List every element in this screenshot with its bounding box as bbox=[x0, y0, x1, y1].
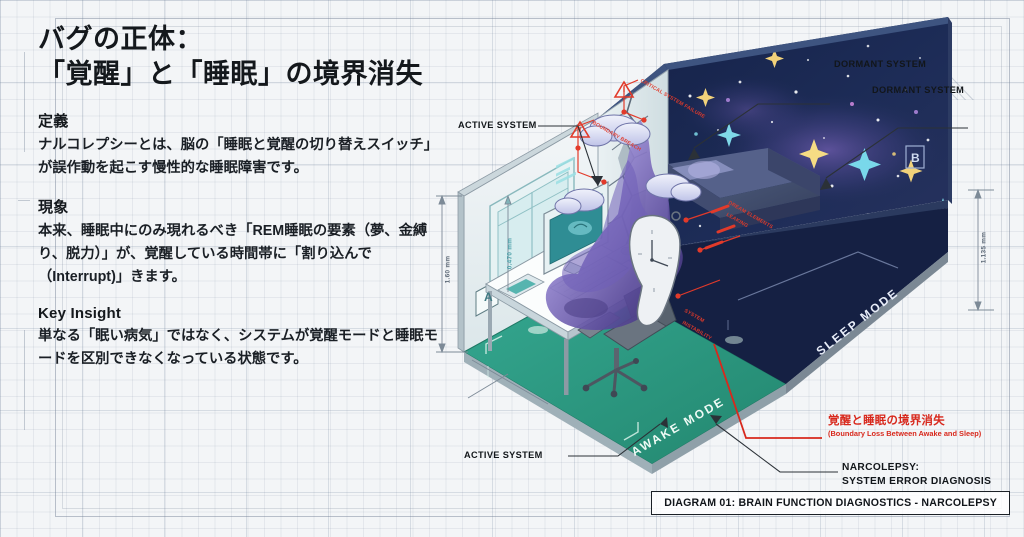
section-phenomenon-body: 本来、睡眠中にのみ現れるべき「REM睡眠の要素（夢、金縛り、脱力）」が、覚醒して… bbox=[38, 220, 438, 288]
callout-dormant-system-2: DORMANT SYSTEM bbox=[872, 85, 964, 95]
section-phenomenon: 現象 本来、睡眠中にのみ現れるべき「REM睡眠の要素（夢、金縛り、脱力）」が、覚… bbox=[38, 196, 438, 288]
section-phenomenon-heading: 現象 bbox=[38, 196, 438, 217]
boundary-loss-en: (Boundary Loss Between Awake and Sleep) bbox=[828, 429, 981, 438]
title-block: DIAGRAM 01: BRAIN FUNCTION DIAGNOSTICS -… bbox=[651, 491, 1010, 515]
boundary-loss-highlight: 覚醒と睡眠の境界消失 (Boundary Loss Between Awake … bbox=[828, 412, 981, 438]
text-column: バグの正体： 「覚醒」と「睡眠」の境界消失 定義 ナルコレプシーとは、脳の「睡眠… bbox=[38, 22, 438, 387]
callout-active-system-top: ACTIVE SYSTEM bbox=[458, 120, 537, 130]
callout-narcolepsy-line1: NARCOLEPSY: bbox=[842, 462, 919, 473]
blueprint-page: バグの正体： 「覚醒」と「睡眠」の境界消失 定義 ナルコレプシーとは、脳の「睡眠… bbox=[0, 0, 1024, 537]
page-title-line2: 「覚醒」と「睡眠」の境界消失 bbox=[38, 57, 438, 92]
section-key-insight-body: 単なる「眠い病気」ではなく、システムが覚醒モードと睡眠モードを区別できなくなって… bbox=[38, 325, 438, 370]
marker-a-label: A bbox=[484, 290, 493, 304]
dimension-right-value: 1.135 mm bbox=[980, 232, 987, 264]
section-definition: 定義 ナルコレプシーとは、脳の「睡眠と覚醒の切り替えスイッチ」が誤作動を起こす慢… bbox=[38, 110, 438, 179]
isometric-room-diagram: AWAKE MODE SLEEP MODE A B bbox=[428, 0, 1024, 537]
marker-b-label: B bbox=[911, 151, 920, 165]
dimension-left-value: 1.60 mm bbox=[444, 256, 451, 284]
section-definition-heading: 定義 bbox=[38, 110, 438, 131]
page-title-line1: バグの正体： bbox=[38, 22, 438, 57]
edge-tick-left-bottom bbox=[24, 330, 25, 430]
callout-active-system-bottom: ACTIVE SYSTEM bbox=[464, 450, 543, 460]
callout-dormant-system-1: DORMANT SYSTEM bbox=[834, 59, 926, 69]
dimension-inner-value: 0.470 mm bbox=[506, 238, 513, 270]
edge-tick-left-top bbox=[24, 52, 25, 152]
boundary-loss-jp: 覚醒と睡眠の境界消失 bbox=[828, 412, 981, 428]
page-title: バグの正体： 「覚醒」と「睡眠」の境界消失 bbox=[38, 22, 438, 92]
callout-narcolepsy-line2: SYSTEM ERROR DIAGNOSIS bbox=[842, 476, 991, 487]
section-key-insight: Key Insight 単なる「眠い病気」ではなく、システムが覚醒モードと睡眠モ… bbox=[38, 305, 438, 370]
section-definition-body: ナルコレプシーとは、脳の「睡眠と覚醒の切り替えスイッチ」が誤作動を起こす慢性的な… bbox=[38, 134, 438, 179]
section-key-insight-heading: Key Insight bbox=[38, 305, 438, 322]
edge-tick-left-mid bbox=[18, 200, 30, 201]
